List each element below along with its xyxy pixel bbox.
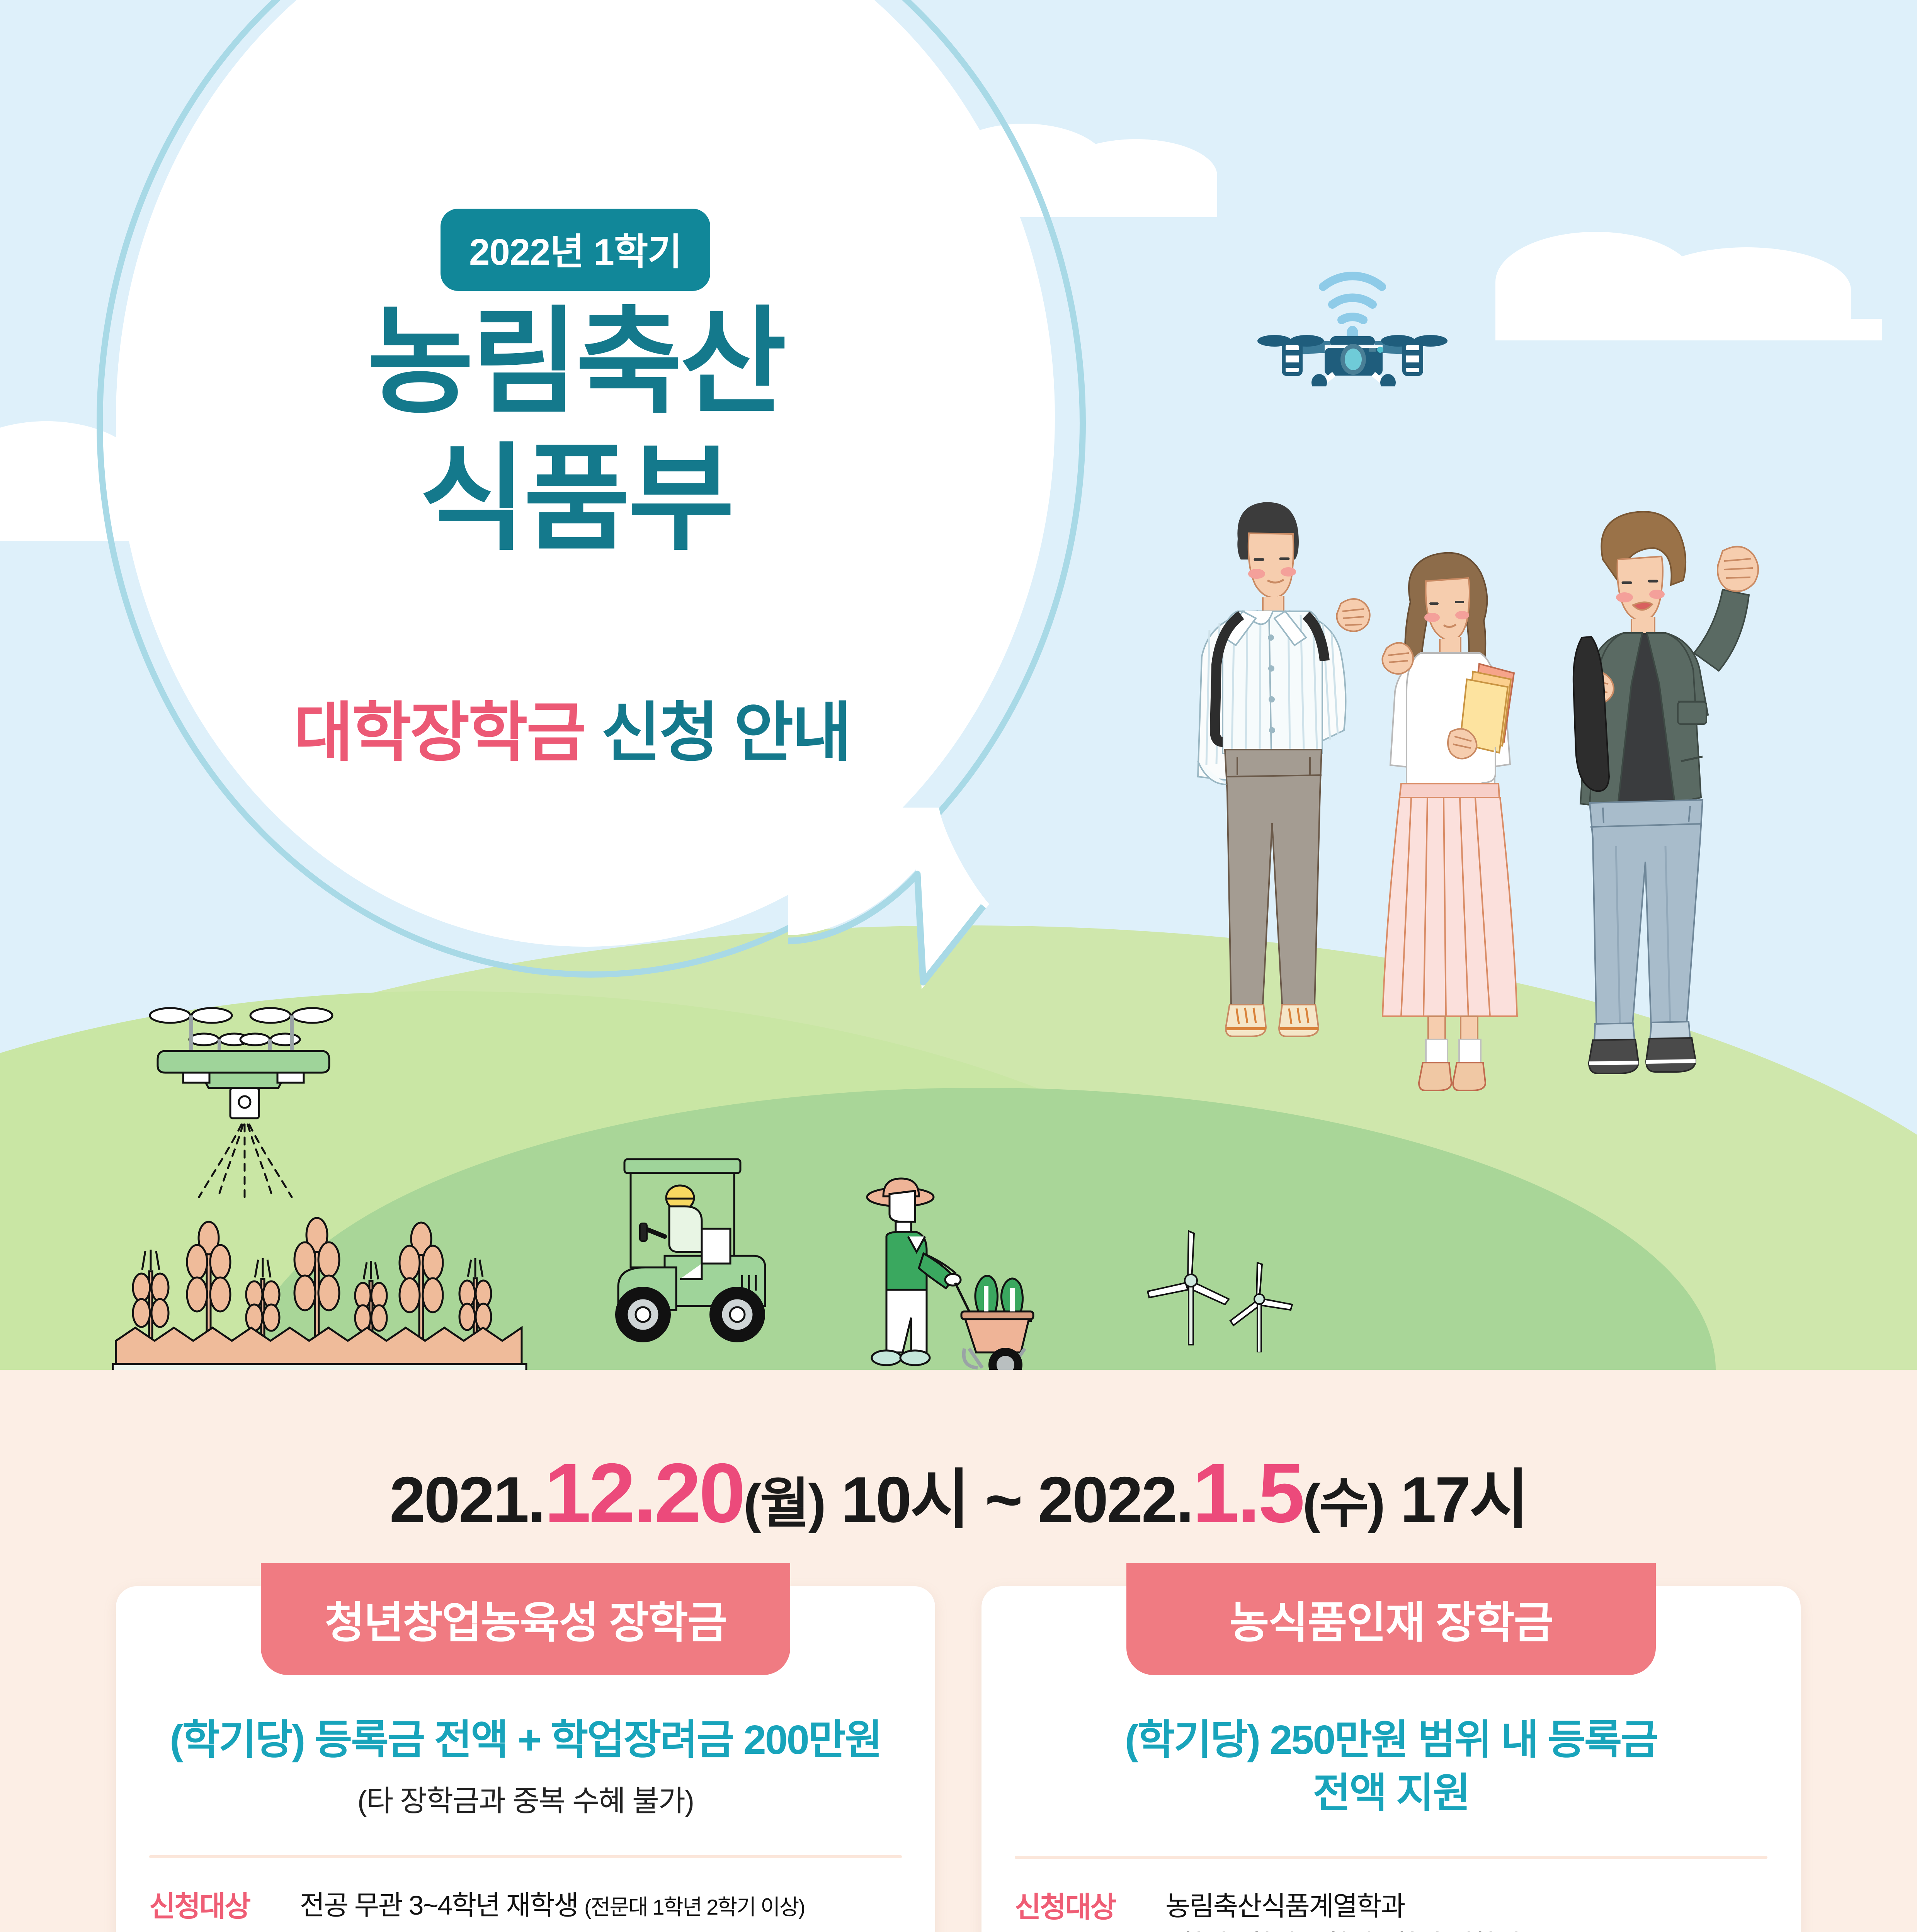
title-line-2: 식품부 [0, 430, 1152, 567]
tractor-icon [549, 1140, 788, 1356]
hero-illustration-section: 2022년 1학기 농림축산 식품부 대학장학금 신청 안내 [0, 0, 1917, 1370]
date-prefix-2: 2022. [1038, 1463, 1192, 1536]
subtitle-rest: 신청 안내 [585, 696, 850, 769]
scholarship-cards: 청년창업농육성 장학금 (학기당) 등록금 전액 + 학업장려금 200만원 (… [116, 1586, 1801, 1932]
application-period: 2021.12.20(월) 10시 ~ 2022.1.5(수) 17시 [0, 1445, 1917, 1542]
speech-bubble-tail [788, 808, 1005, 989]
start-date: 12.20 [544, 1446, 743, 1540]
page-subtitle: 대학장학금 신청 안내 [0, 680, 1144, 774]
end-time: 17시 [1384, 1463, 1527, 1536]
three-students-illustration [1140, 437, 1828, 1094]
student-center [1382, 553, 1517, 1090]
card-banner-title: 청년창업농육성 장학금 [261, 1563, 790, 1675]
detail-row-target: 신청대상 농림축산식품계열학과 1학년 2학기~2학년 2학기 재학생 (전문대… [1015, 1887, 1767, 1932]
end-date: 1.5 [1192, 1446, 1303, 1540]
page-title: 농림축산 식품부 [0, 294, 1152, 567]
date-prefix-1: 2021. [390, 1463, 544, 1536]
info-section: 2021.12.20(월) 10시 ~ 2022.1.5(수) 17시 청년창업… [0, 1370, 1917, 1932]
card-detail-rows: 신청대상 전공 무관 3~4학년 재학생 (전문대 1학년 2학기 이상) 신청… [116, 1858, 935, 1932]
row-main-text: 농림축산식품계열학과 [1165, 1887, 1767, 1926]
subtitle-highlight: 대학장학금 [294, 696, 585, 769]
end-day: (수) [1303, 1473, 1384, 1534]
card-detail-rows: 신청대상 농림축산식품계열학과 1학년 2학기~2학년 2학기 재학생 (전문대… [981, 1859, 1801, 1932]
card-amount: (학기당) 등록금 전액 + 학업장려금 200만원 [116, 1714, 935, 1767]
scholarship-card-youth-startup: 청년창업농육성 장학금 (학기당) 등록금 전액 + 학업장려금 200만원 (… [116, 1586, 935, 1932]
row-main-text: 전공 무관 3~4학년 재학생 [300, 1890, 584, 1920]
card-amount: (학기당) 250만원 범위 내 등록금전액 지원 [1101, 1714, 1681, 1820]
wheat-field-illustration [112, 1171, 537, 1370]
card-banner-title: 농식품인재 장학금 [1126, 1563, 1656, 1675]
wifi-drone-icon [1229, 232, 1476, 386]
row-main-text-2: 1학년 2학기~2학년 2학기 재학생 [1165, 1930, 1526, 1932]
start-time: 10시 ~ [825, 1463, 1038, 1536]
row-value: 전공 무관 3~4학년 재학생 (전문대 1학년 2학기 이상) [300, 1886, 902, 1925]
title-line-1: 농림축산 [0, 294, 1152, 430]
scholarship-card-agrifood-talent: 농식품인재 장학금 (학기당) 250만원 범위 내 등록금전액 지원 신청대상… [981, 1586, 1801, 1932]
farmer-with-wheelbarrow-icon [846, 1167, 1117, 1370]
detail-row-target: 신청대상 전공 무관 3~4학년 재학생 (전문대 1학년 2학기 이상) [149, 1886, 902, 1927]
start-day: (월) [743, 1473, 825, 1534]
card-divider [1015, 1856, 1767, 1859]
row-label: 신청대상 [1015, 1887, 1165, 1927]
card-divider [149, 1855, 902, 1858]
row-small-text: (전문대 1학년 2학기 이상) [584, 1895, 805, 1919]
row-label: 신청대상 [149, 1886, 300, 1927]
wind-turbines-icon [1132, 1190, 1310, 1352]
term-badge: 2022년 1학기 [441, 209, 710, 291]
row-value: 농림축산식품계열학과 1학년 2학기~2학년 2학기 재학생 (전문대 제외) [1165, 1887, 1767, 1932]
student-left [1198, 503, 1370, 1036]
student-right [1573, 512, 1758, 1073]
card-note: (타 장학금과 중복 수혜 불가) [116, 1777, 935, 1820]
